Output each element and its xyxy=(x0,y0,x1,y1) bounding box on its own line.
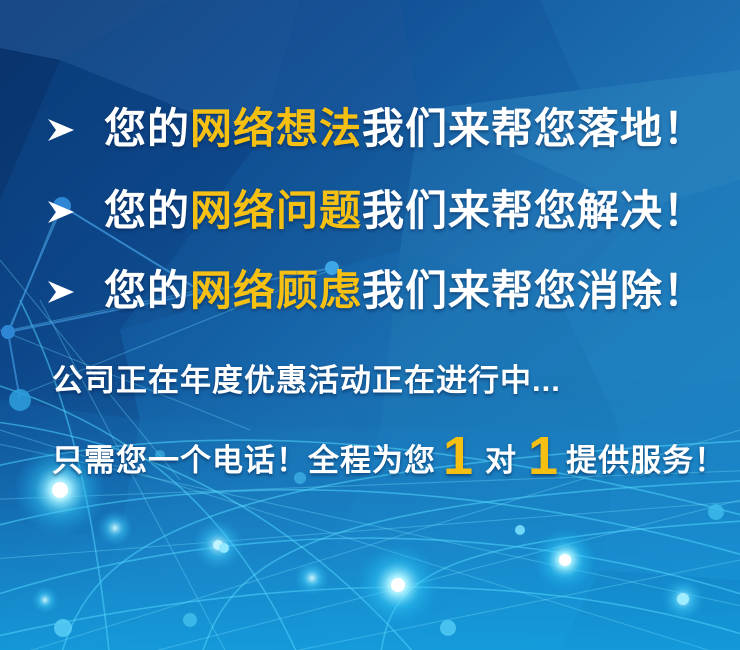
headline-1-suffix: 我们来帮您落地！ xyxy=(362,105,706,152)
headline-3-highlight: 网络顾虑 xyxy=(190,267,362,314)
arrow-right-triangle-icon xyxy=(44,275,78,309)
headline-text-1: 您的网络想法我们来帮您落地！ xyxy=(104,103,706,155)
headline-row-2: 您的网络问题我们来帮您解决！ xyxy=(44,185,706,237)
arrow-right-triangle-icon xyxy=(44,113,78,147)
headline-text-2: 您的网络问题我们来帮您解决！ xyxy=(104,185,706,237)
headline-row-3: 您的网络顾虑我们来帮您消除！ xyxy=(44,265,706,317)
promo-subtext-line-2: 只需您一个电话！全程为您 1 对 1 提供服务！ xyxy=(52,428,726,486)
subtext-2-part-2: 提供服务！ xyxy=(566,436,726,486)
headline-3-suffix: 我们来帮您消除！ xyxy=(362,267,706,314)
service-ratio-number-second: 1 xyxy=(528,431,559,481)
promo-subtext-line-1: 公司正在年度优惠活动正在进行中... xyxy=(52,360,561,402)
headline-1-highlight: 网络想法 xyxy=(190,105,362,152)
arrow-right-triangle-icon xyxy=(44,195,78,229)
headline-3-prefix: 您的 xyxy=(104,267,190,314)
headline-row-1: 您的网络想法我们来帮您落地！ xyxy=(44,103,706,155)
service-ratio-separator: 对 xyxy=(485,436,517,486)
headline-text-3: 您的网络顾虑我们来帮您消除！ xyxy=(104,265,706,317)
headline-2-suffix: 我们来帮您解决！ xyxy=(362,187,706,234)
service-ratio-number-first: 1 xyxy=(443,431,474,481)
promo-banner: 您的网络想法我们来帮您落地！ 您的网络问题我们来帮您解决！ 您的网络顾虑我们来帮… xyxy=(0,0,740,650)
headline-2-highlight: 网络问题 xyxy=(190,187,362,234)
subtext-2-part-1: 只需您一个电话！全程为您 xyxy=(52,436,436,486)
headline-1-prefix: 您的 xyxy=(104,105,190,152)
banner-content: 您的网络想法我们来帮您落地！ 您的网络问题我们来帮您解决！ 您的网络顾虑我们来帮… xyxy=(0,0,740,650)
headline-2-prefix: 您的 xyxy=(104,187,190,234)
